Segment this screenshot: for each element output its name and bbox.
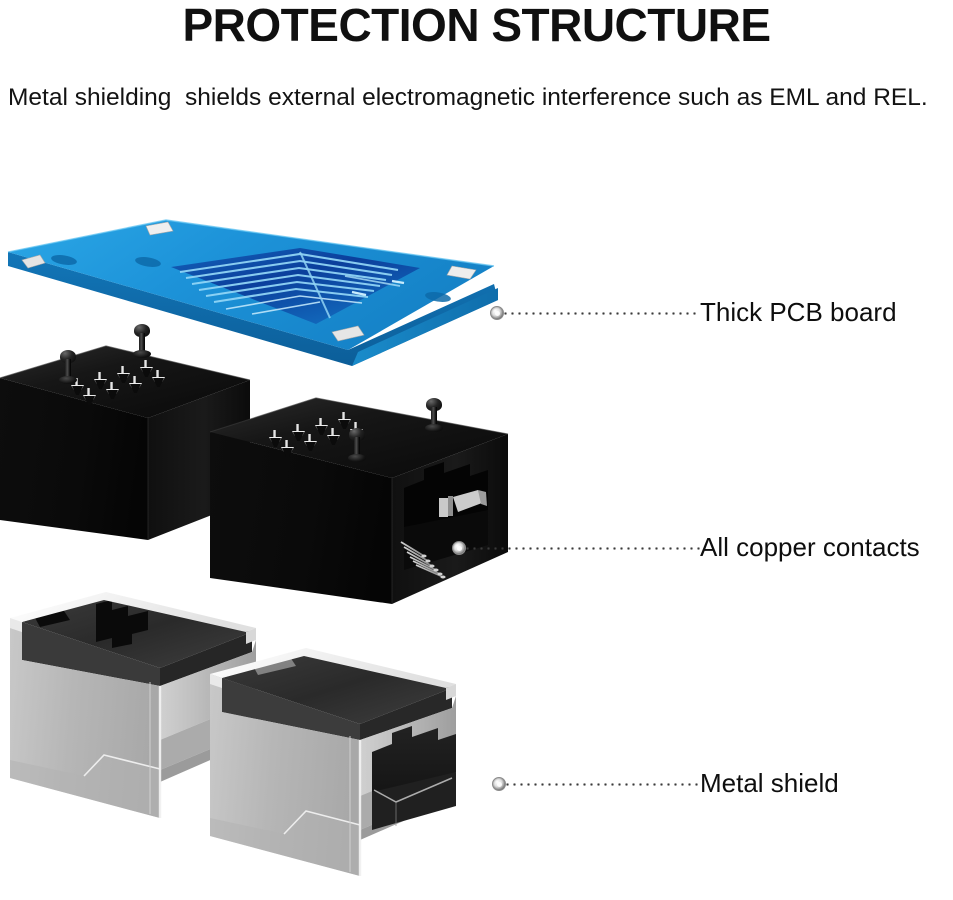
callout-label-contacts: All copper contacts [700,530,920,564]
callout-marker-icon [490,306,504,320]
leader-line [464,547,700,550]
callout-label-shield: Metal shield [700,766,839,800]
callout-label-pcb: Thick PCB board [700,295,897,329]
leader-line [504,783,700,786]
diagram-page: PROTECTION STRUCTURE Metal shielding shi… [0,0,953,900]
callout-marker-icon [452,541,466,555]
metal-shield-right-part [210,648,456,876]
leader-line [502,312,700,315]
exploded-assembly-illustration [0,0,953,900]
callout-marker-icon [492,777,506,791]
pcb-board-part [8,220,498,366]
